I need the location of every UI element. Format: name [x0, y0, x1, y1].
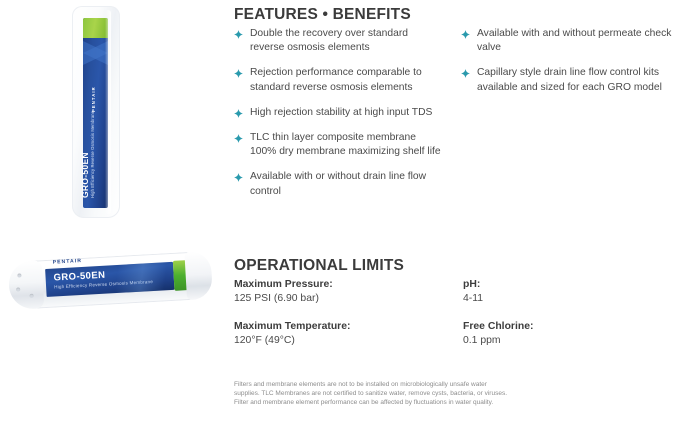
operational-limit-label: Maximum Temperature: [234, 320, 463, 334]
horizontal-product-image: PENTAIR GRO-50EN High Efficiency Reverse… [10, 252, 218, 320]
feature-bullet-item: Capillary style drain line flow control … [461, 66, 672, 94]
features-column-left: Double the recovery over standard revers… [234, 27, 445, 210]
horizontal-product-brand: PENTAIR [53, 258, 83, 266]
feature-bullet-text: Available with or without drain line flo… [250, 170, 445, 198]
feature-bullet-item: High rejection stability at high input T… [234, 106, 445, 120]
disclaimer-text: Filters and membrane elements are not to… [234, 380, 586, 407]
operational-limit-label: pH: [463, 278, 679, 292]
feature-bullet-text: Capillary style drain line flow control … [477, 66, 672, 94]
horizontal-product-label: GRO-50EN High Efficiency Reverse Osmosis… [45, 262, 174, 297]
feature-bullet-item: Rejection performance comparable to stan… [234, 66, 445, 94]
feature-bullet-item: Available with and without permeate chec… [461, 27, 672, 55]
operational-limit-entry: pH:4-11 [463, 278, 679, 306]
membrane-housing: PENTAIR GRO-50EN High Efficiency Reverse… [9, 251, 211, 310]
diamond-bullet-icon [461, 69, 470, 78]
housing-port-dimple [17, 273, 21, 277]
features-bullet-columns: Double the recovery over standard revers… [234, 27, 679, 210]
blister-gloss-highlight [105, 10, 111, 214]
operational-limit-value: 4-11 [463, 292, 679, 306]
disclaimer-line-1: Filters and membrane elements are not to… [234, 380, 586, 389]
vertical-product-subtitle: High Efficiency Reverse Osmosis Membrane [90, 111, 96, 198]
feature-bullet-item: Double the recovery over standard revers… [234, 27, 445, 55]
operational-limit-entry: Free Chlorine:0.1 ppm [463, 320, 679, 348]
feature-bullet-text: Available with and without permeate chec… [477, 27, 672, 55]
housing-endcap-left [8, 260, 45, 310]
housing-port-dimple [16, 287, 20, 291]
diamond-bullet-icon [234, 69, 243, 78]
housing-port-dimple [29, 294, 33, 298]
diamond-bullet-icon [234, 173, 243, 182]
specification-content: FEATURES • BENEFITS Double the recovery … [234, 0, 679, 422]
diamond-bullet-icon [234, 109, 243, 118]
feature-bullet-text: High rejection stability at high input T… [250, 106, 432, 120]
housing-endcap-right [184, 251, 213, 300]
diamond-bullet-icon [234, 30, 243, 39]
operational-limit-value: 125 PSI (6.90 bar) [234, 292, 463, 306]
feature-bullet-text: TLC thin layer composite membrane 100% d… [250, 131, 445, 159]
diamond-bullet-icon [461, 30, 470, 39]
product-image-column: GRO-50EN High Efficiency Reverse Osmosis… [0, 0, 228, 422]
features-benefits-title: FEATURES • BENEFITS [234, 6, 411, 24]
vertical-product-brand: PENTAIR [91, 86, 96, 112]
operational-limit-value: 120°F (49°C) [234, 334, 463, 348]
vertical-product-image: GRO-50EN High Efficiency Reverse Osmosis… [72, 6, 120, 218]
feature-bullet-item: Available with or without drain line flo… [234, 170, 445, 198]
feature-bullet-item: TLC thin layer composite membrane 100% d… [234, 131, 445, 159]
operational-limits-title: OPERATIONAL LIMITS [234, 257, 404, 275]
diamond-bullet-icon [234, 134, 243, 143]
operational-limit-label: Free Chlorine: [463, 320, 679, 334]
operational-limits-grid: Maximum Pressure:125 PSI (6.90 bar)pH:4-… [234, 278, 679, 348]
features-column-right: Available with and without permeate chec… [461, 27, 672, 210]
operational-limit-value: 0.1 ppm [463, 334, 679, 348]
disclaimer-line-3: Filter and membrane element performance … [234, 398, 586, 407]
label-sheen [45, 262, 174, 297]
feature-bullet-text: Double the recovery over standard revers… [250, 27, 445, 55]
operational-limit-entry: Maximum Temperature:120°F (49°C) [234, 320, 463, 348]
operational-limit-label: Maximum Pressure: [234, 278, 463, 292]
disclaimer-line-2: supplies. TLC Membranes are not certifie… [234, 389, 586, 398]
operational-limit-entry: Maximum Pressure:125 PSI (6.90 bar) [234, 278, 463, 306]
feature-bullet-text: Rejection performance comparable to stan… [250, 66, 445, 94]
vertical-product-model: GRO-50EN [81, 111, 90, 198]
